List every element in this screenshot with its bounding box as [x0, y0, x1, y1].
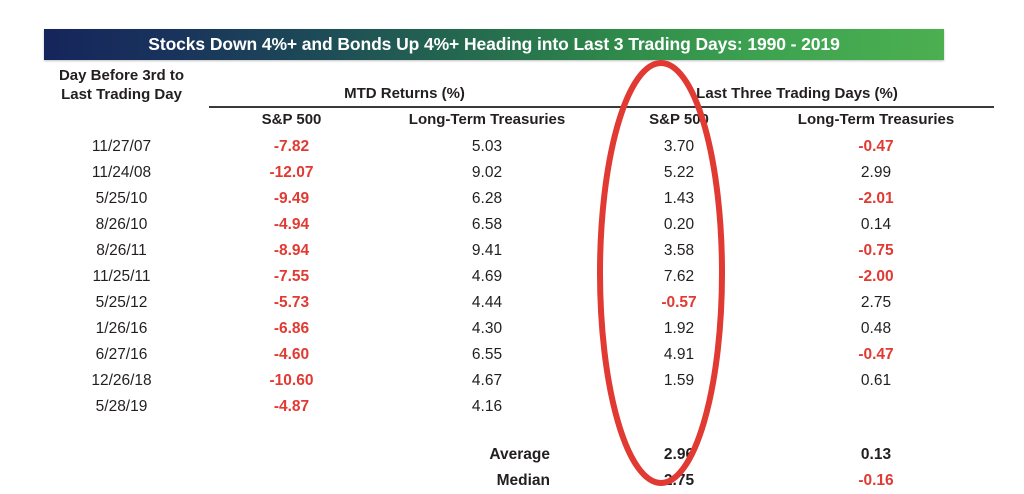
table-row: 1/26/16-6.864.301.920.48: [34, 316, 994, 342]
cell-date: 8/26/10: [34, 212, 209, 238]
cell-date: 1/26/16: [34, 316, 209, 342]
cell-l3-spx: 7.62: [600, 264, 758, 290]
summary-l3-treasuries: -0.16: [758, 468, 994, 494]
table-head: Day Before 3rd to Last Trading Day MTD R…: [34, 66, 994, 134]
cell-l3-treasuries: -0.47: [758, 342, 994, 368]
cell-date: 5/25/12: [34, 290, 209, 316]
cell-l3-treasuries: -2.00: [758, 264, 994, 290]
group-header-last-three: Last Three Trading Days (%): [600, 66, 994, 107]
cell-l3-spx: 3.70: [600, 134, 758, 160]
corner-header-line2: Last Trading Day: [34, 85, 209, 104]
cell-mtd-spx: -5.73: [209, 290, 374, 316]
spacer-cell: [209, 420, 374, 442]
table-row: 11/24/08-12.079.025.222.99: [34, 160, 994, 186]
sub-header-mtd-spx: S&P 500: [209, 107, 374, 134]
cell-mtd-spx: -7.55: [209, 264, 374, 290]
cell-mtd-treasuries: 4.44: [374, 290, 600, 316]
cell-mtd-spx: -9.49: [209, 186, 374, 212]
table-row: 5/25/12-5.734.44-0.572.75: [34, 290, 994, 316]
sub-header-row: S&P 500 Long-Term Treasuries S&P 500 Lon…: [34, 107, 994, 134]
cell-date: 5/28/19: [34, 394, 209, 420]
cell-date: 6/27/16: [34, 342, 209, 368]
cell-mtd-spx: -12.07: [209, 160, 374, 186]
cell-l3-spx: -0.57: [600, 290, 758, 316]
cell-l3-spx: 1.43: [600, 186, 758, 212]
cell-l3-treasuries: -0.47: [758, 134, 994, 160]
spacer-cell: [758, 420, 994, 442]
table-row: 5/28/19-4.874.16: [34, 394, 994, 420]
table-row: 8/26/10-4.946.580.200.14: [34, 212, 994, 238]
cell-l3-spx: 3.58: [600, 238, 758, 264]
cell-mtd-treasuries: 5.03: [374, 134, 600, 160]
cell-mtd-spx: -8.94: [209, 238, 374, 264]
summary-blank-date: [34, 468, 209, 494]
summary-blank-date: [34, 442, 209, 468]
cell-l3-spx: [600, 394, 758, 420]
spacer-cell: [374, 420, 600, 442]
table-container: Day Before 3rd to Last Trading Day MTD R…: [0, 66, 1024, 494]
cell-mtd-treasuries: 9.02: [374, 160, 600, 186]
spacer-cell: [34, 420, 209, 442]
cell-date: 11/27/07: [34, 134, 209, 160]
page-title: Stocks Down 4%+ and Bonds Up 4%+ Heading…: [148, 34, 839, 55]
cell-l3-spx: 0.20: [600, 212, 758, 238]
cell-l3-treasuries: 0.14: [758, 212, 994, 238]
cell-mtd-treasuries: 9.41: [374, 238, 600, 264]
summary-l3-treasuries: 0.13: [758, 442, 994, 468]
cell-l3-treasuries: -0.75: [758, 238, 994, 264]
cell-l3-treasuries: 0.61: [758, 368, 994, 394]
cell-date: 11/24/08: [34, 160, 209, 186]
summary-l3-spx: 2.96: [600, 442, 758, 468]
table-row: 5/25/10-9.496.281.43-2.01: [34, 186, 994, 212]
cell-date: 12/26/18: [34, 368, 209, 394]
cell-mtd-treasuries: 6.55: [374, 342, 600, 368]
summary-row: Median2.75-0.16: [34, 468, 994, 494]
table-body: 11/27/07-7.825.033.70-0.4711/24/08-12.07…: [34, 134, 994, 494]
spacer-row: [34, 420, 994, 442]
cell-date: 5/25/10: [34, 186, 209, 212]
table-row: 12/26/18-10.604.671.590.61: [34, 368, 994, 394]
table-row: 6/27/16-4.606.554.91-0.47: [34, 342, 994, 368]
cell-mtd-spx: -7.82: [209, 134, 374, 160]
sub-header-spacer: [34, 107, 209, 134]
cell-l3-treasuries: 2.99: [758, 160, 994, 186]
cell-mtd-spx: -10.60: [209, 368, 374, 394]
cell-l3-treasuries: 0.48: [758, 316, 994, 342]
table-row: 8/26/11-8.949.413.58-0.75: [34, 238, 994, 264]
group-header-row: Day Before 3rd to Last Trading Day MTD R…: [34, 66, 994, 107]
spacer-cell: [600, 420, 758, 442]
cell-mtd-spx: -4.87: [209, 394, 374, 420]
cell-l3-treasuries: -2.01: [758, 186, 994, 212]
cell-mtd-treasuries: 4.16: [374, 394, 600, 420]
cell-mtd-spx: -6.86: [209, 316, 374, 342]
group-header-mtd: MTD Returns (%): [209, 66, 600, 107]
table-row: 11/27/07-7.825.033.70-0.47: [34, 134, 994, 160]
summary-blank-mtd-spx: [209, 442, 374, 468]
cell-l3-spx: 1.92: [600, 316, 758, 342]
returns-table: Day Before 3rd to Last Trading Day MTD R…: [34, 66, 994, 494]
cell-mtd-treasuries: 4.69: [374, 264, 600, 290]
summary-label: Median: [374, 468, 600, 494]
chart-title-banner: Stocks Down 4%+ and Bonds Up 4%+ Heading…: [44, 29, 944, 60]
cell-l3-spx: 1.59: [600, 368, 758, 394]
summary-blank-mtd-spx: [209, 468, 374, 494]
sub-header-l3-treasuries: Long-Term Treasuries: [758, 107, 994, 134]
cell-mtd-spx: -4.60: [209, 342, 374, 368]
cell-l3-treasuries: [758, 394, 994, 420]
summary-row: Average2.960.13: [34, 442, 994, 468]
cell-date: 8/26/11: [34, 238, 209, 264]
cell-l3-spx: 5.22: [600, 160, 758, 186]
summary-label: Average: [374, 442, 600, 468]
cell-mtd-treasuries: 4.67: [374, 368, 600, 394]
sub-header-mtd-treasuries: Long-Term Treasuries: [374, 107, 600, 134]
cell-mtd-treasuries: 4.30: [374, 316, 600, 342]
corner-header: Day Before 3rd to Last Trading Day: [34, 66, 209, 107]
cell-date: 11/25/11: [34, 264, 209, 290]
table-row: 11/25/11-7.554.697.62-2.00: [34, 264, 994, 290]
corner-header-line1: Day Before 3rd to: [34, 66, 209, 85]
cell-l3-spx: 4.91: [600, 342, 758, 368]
summary-l3-spx: 2.75: [600, 468, 758, 494]
sub-header-l3-spx: S&P 500: [600, 107, 758, 134]
cell-mtd-treasuries: 6.58: [374, 212, 600, 238]
cell-l3-treasuries: 2.75: [758, 290, 994, 316]
cell-mtd-treasuries: 6.28: [374, 186, 600, 212]
cell-mtd-spx: -4.94: [209, 212, 374, 238]
